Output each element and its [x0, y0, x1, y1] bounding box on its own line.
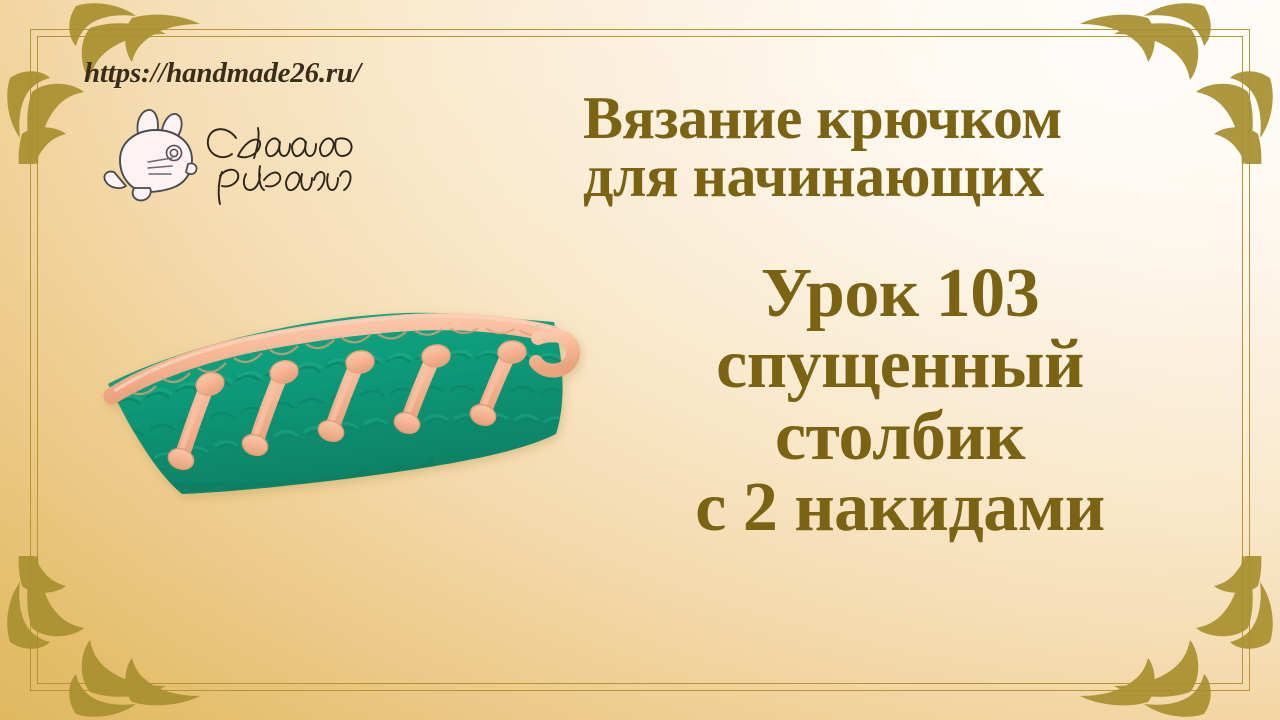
lesson-title-line-1: Урок 103	[580, 258, 1220, 329]
brand-script-text	[208, 128, 352, 204]
crochet-swatch-photo	[86, 286, 596, 566]
page-title-line-1: Вязание крючком	[583, 90, 1203, 148]
lesson-title: Урок 103 спущенный столбик с 2 накидами	[580, 258, 1220, 544]
site-url-watermark: https://handmade26.ru/	[84, 57, 361, 90]
lesson-title-line-3: столбик	[580, 401, 1220, 472]
page-title-line-2: для начинающих	[583, 148, 1203, 206]
page-title: Вязание крючком для начинающих	[583, 90, 1203, 205]
lesson-title-line-2: спущенный	[580, 329, 1220, 400]
brand-logo	[100, 104, 380, 214]
bunny-mascot-icon	[104, 110, 196, 200]
lesson-title-line-4: с 2 накидами	[580, 472, 1220, 543]
thumbnail-canvas: https://handmade26.ru/	[0, 0, 1280, 720]
